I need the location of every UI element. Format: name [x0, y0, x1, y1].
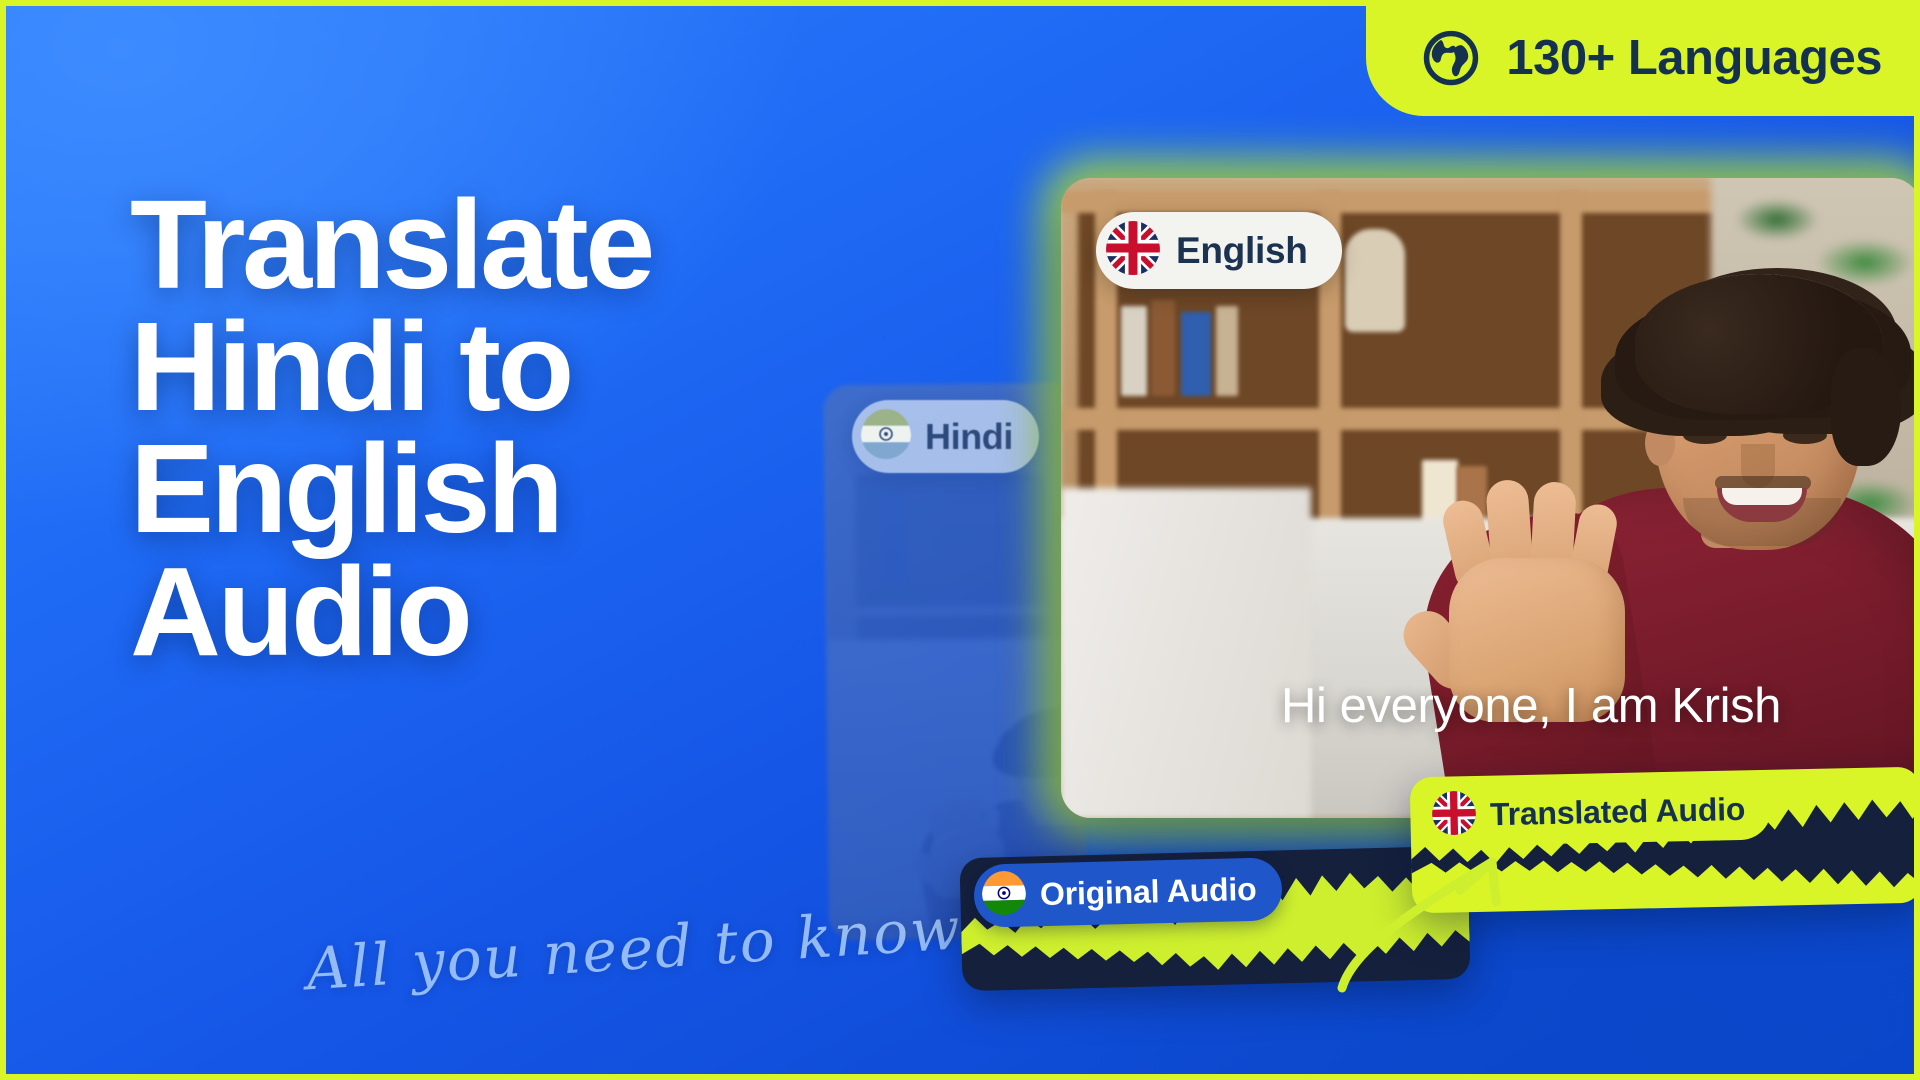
english-language-badge[interactable]: English	[1096, 212, 1342, 289]
book-2	[1151, 300, 1175, 396]
original-audio-label: Original Audio	[1040, 871, 1257, 913]
translated-audio-label: Translated Audio	[1490, 791, 1746, 833]
vase	[1345, 229, 1405, 331]
translated-audio-badge[interactable]: Translated Audio	[1423, 778, 1771, 846]
india-flag-icon	[981, 871, 1026, 921]
book-3	[1181, 312, 1211, 395]
english-label: English	[1176, 230, 1308, 272]
languages-badge-label: 130+ Languages	[1506, 34, 1882, 83]
headline-line-4: Audio	[130, 551, 930, 673]
uk-flag-icon	[1106, 221, 1160, 280]
couch-armrest	[1061, 488, 1311, 818]
page-title: Translate Hindi to English Audio	[130, 184, 930, 673]
headline-line-2: Hindi to	[130, 306, 930, 428]
original-audio-badge[interactable]: Original Audio	[973, 857, 1283, 928]
book-4	[1216, 306, 1238, 396]
languages-badge[interactable]: 130+ Languages	[1366, 0, 1920, 116]
promo-banner: Translate Hindi to English Audio All you…	[0, 0, 1920, 1080]
shelf-top	[1061, 191, 1749, 213]
video-subtitle: Hi everyone, I am Krish	[1281, 678, 1781, 734]
headline-line-3: English	[130, 428, 930, 550]
headline-line-1: Translate	[130, 184, 930, 306]
uk-flag-icon	[1432, 791, 1477, 841]
sideburn	[1831, 348, 1901, 466]
background-canvas: Translate Hindi to English Audio All you…	[6, 6, 1914, 1074]
subtitle-script-note: All you need to know!	[305, 893, 989, 1004]
person-on-camera	[1439, 258, 1914, 818]
book-1	[1121, 306, 1147, 396]
hindi-label: Hindi	[925, 416, 1013, 458]
globe-icon	[1422, 29, 1480, 87]
